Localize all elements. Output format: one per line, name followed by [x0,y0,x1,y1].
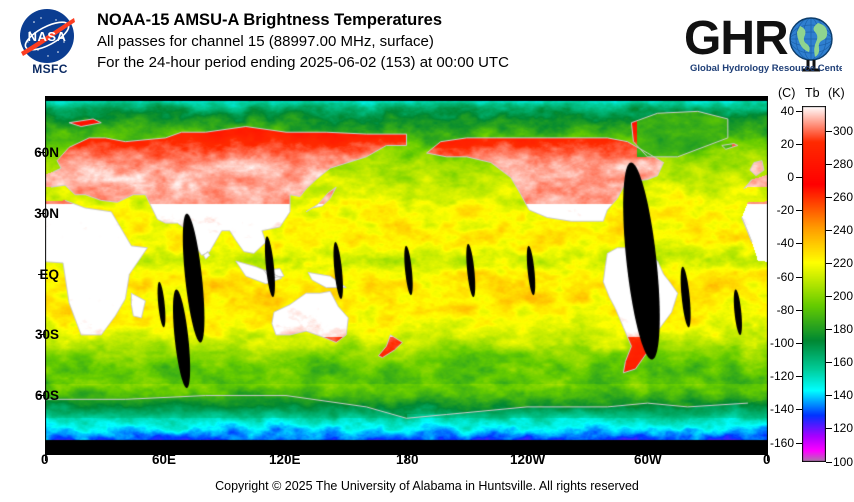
colorbar-label-c--120: -120 [764,369,794,383]
xlabel-0W: 0 [763,452,771,467]
svg-text:NASA: NASA [28,29,67,44]
colorbar-label-k-140: 140 [833,388,853,402]
colorbar-label-c-40: 40 [764,104,794,118]
colorbar-tick-c--80 [796,310,802,311]
colorbar-tick-k-120 [826,428,832,429]
colorbar-tick-k-260 [826,197,832,198]
colorbar-label-k-120: 120 [833,421,853,435]
subtitle-channel: All passes for channel 15 (88997.00 MHz,… [97,31,667,52]
ylabel-30S: 30S [35,327,59,342]
colorbar-tick-c--100 [796,343,802,344]
ylabel-30N: 30N [34,206,59,221]
colorbar-label-c--160: -160 [764,436,794,450]
msfc-label: MSFC [14,62,86,76]
colorbar-label-c--60: -60 [764,270,794,284]
colorbar-tick-k-200 [826,296,832,297]
colorbar-tick-k-280 [826,164,832,165]
colorbar-label-c-0: 0 [764,170,794,184]
colorbar-label-c--140: -140 [764,402,794,416]
colorbar-label-k-280: 280 [833,157,853,171]
colorbar-tick-c-20 [796,144,802,145]
colorbar-unit-celsius: (C) [778,86,795,100]
colorbar-tick-c--160 [796,443,802,444]
colorbar-tick-k-300 [826,131,832,132]
map-plot-area [45,96,768,455]
xlabel-60W: 60W [634,452,662,467]
colorbar [802,106,826,462]
colorbar-label-k-240: 240 [833,223,853,237]
colorbar-label-c--80: -80 [764,303,794,317]
colorbar-tick-k-180 [826,329,832,330]
page-title: NOAA-15 AMSU-A Brightness Temperatures [97,10,667,31]
ylabel-60N: 60N [34,145,59,160]
ylabel-EQ: EQ [39,267,59,282]
colorbar-gradient [802,106,826,462]
brightness-temperature-map [45,100,768,441]
header: NASA MSFC NOAA-15 AMSU-A Brightness Temp… [0,0,854,88]
colorbar-label-k-160: 160 [833,355,853,369]
colorbar-tick-k-240 [826,230,832,231]
colorbar-tick-c-0 [796,177,802,178]
colorbar-label-tb: Tb [805,86,820,100]
colorbar-label-k-220: 220 [833,256,853,270]
colorbar-tick-k-220 [826,263,832,264]
colorbar-tick-c--40 [796,243,802,244]
colorbar-tick-c--20 [796,210,802,211]
subtitle-period: For the 24-hour period ending 2025-06-02… [97,52,667,73]
colorbar-label-c--20: -20 [764,203,794,217]
xlabel-120W: 120W [510,452,545,467]
colorbar-tick-c-40 [796,111,802,112]
ghrc-tagline: Global Hydrology Resource Center [690,63,842,74]
svg-text:GHR: GHR [684,12,788,65]
colorbar-unit-kelvin: (K) [828,86,845,100]
colorbar-tick-c--120 [796,376,802,377]
xlabel-0: 0 [41,452,49,467]
colorbar-tick-c--140 [796,409,802,410]
colorbar-tick-k-160 [826,362,832,363]
xlabel-60E: 60E [152,452,176,467]
colorbar-label-k-100: 100 [833,455,853,469]
ghrc-logo: GHR Global Hydrology Resource Cente [682,8,842,78]
colorbar-tick-c--60 [796,277,802,278]
ylabel-60S: 60S [35,388,59,403]
colorbar-label-k-200: 200 [833,289,853,303]
colorbar-label-k-260: 260 [833,190,853,204]
copyright-notice: Copyright © 2025 The University of Alaba… [0,479,854,493]
colorbar-tick-k-100 [826,462,832,463]
colorbar-label-c--40: -40 [764,236,794,250]
colorbar-label-c-20: 20 [764,137,794,151]
xlabel-120E: 120E [269,452,301,467]
xlabel-180: 180 [396,452,419,467]
title-block: NOAA-15 AMSU-A Brightness Temperatures A… [97,10,667,73]
colorbar-label-k-300: 300 [833,124,853,138]
colorbar-label-c--100: -100 [764,336,794,350]
colorbar-label-k-180: 180 [833,322,853,336]
colorbar-tick-k-140 [826,395,832,396]
